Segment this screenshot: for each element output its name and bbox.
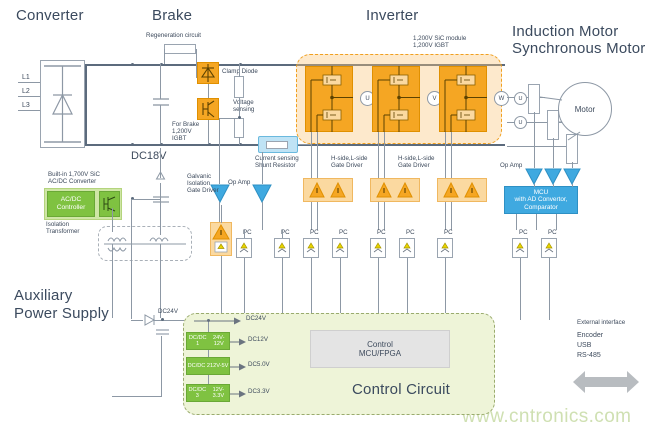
phase-label-l1: L1 xyxy=(22,74,30,82)
dcdc-1-range: 24V-12V xyxy=(208,335,229,348)
dc18v-label: DC18V xyxy=(131,150,166,162)
rail-label-dc3v3: DC3.3V xyxy=(248,389,270,396)
dcdc-1-block[interactable]: DC/DC 1 24V-12V xyxy=(186,332,230,350)
mcu-in-3 xyxy=(572,184,573,187)
gate-driver-icons-3 xyxy=(437,178,487,202)
inverter-leg-v-symbols xyxy=(372,66,420,132)
section-title-motor-2: Synchronous Motor xyxy=(512,41,645,58)
dcdc-3-range: 12V-3.3V xyxy=(208,387,229,400)
isolation-transformer-label: IsolationTransformer xyxy=(46,222,79,236)
brake-igbt-top-leg xyxy=(208,84,209,98)
gate-driver-label-2: H-side,L-sideGate Driver xyxy=(398,156,434,170)
op-amp-label-brake: Op Amp xyxy=(228,180,250,187)
sic-mosfet-icon xyxy=(99,191,120,217)
diagram-canvas: Converter Brake Inverter Induction Motor… xyxy=(0,0,646,431)
pc-in-2 xyxy=(282,230,283,238)
acdc-controller-block: AC/DCController xyxy=(47,191,95,217)
mcu-in-2 xyxy=(553,184,554,187)
vsense-top-leg xyxy=(239,64,240,77)
gate-feed xyxy=(378,132,379,180)
external-item-encoder: Encoder xyxy=(577,332,603,340)
current-shunt-resistor xyxy=(266,141,288,149)
optocoupler-icon-7 xyxy=(437,238,453,258)
motor-shunt-1 xyxy=(528,84,540,114)
pc-out-2 xyxy=(282,258,283,320)
external-item-usb: USB xyxy=(577,342,591,350)
pc-label: PC xyxy=(519,230,528,237)
optocoupler-icon-2 xyxy=(274,238,290,258)
op-amp-triangle-motor-2 xyxy=(544,168,562,185)
rail-arrow-24v xyxy=(194,316,246,326)
motor-terminal-top: U xyxy=(514,92,527,105)
rectifier-symbol xyxy=(40,60,86,149)
gate-driver-out xyxy=(317,202,318,230)
dc-link-capacitor xyxy=(152,92,170,116)
rail-label-dc5v: DC5.0V xyxy=(248,362,270,369)
gate-driver-out xyxy=(445,202,446,230)
aux-rail-down xyxy=(131,199,132,319)
dcdc-3-name: DC/DC 3 xyxy=(187,387,208,400)
section-title-brake: Brake xyxy=(152,8,192,25)
for-brake-label: For Brake1,200VIGBT xyxy=(172,122,199,143)
pc-out-5 xyxy=(378,258,379,320)
pc-out-7 xyxy=(445,258,446,320)
dcdc-chain-3 xyxy=(208,375,209,384)
pc-in-1 xyxy=(244,230,245,238)
rail-arrow-5v xyxy=(230,362,248,372)
galvanic-gate-driver-label: GalvanicIsolationGate Driver xyxy=(187,174,219,195)
dc24v-label: DC24V xyxy=(158,309,178,316)
section-title-aux-2: Power Supply xyxy=(14,306,109,323)
gate-driver-out xyxy=(451,202,452,230)
mcu-in-1 xyxy=(534,184,535,187)
cap-bottom-leg xyxy=(160,105,161,144)
gate-driver-icons-2 xyxy=(370,178,420,202)
section-title-inverter: Inverter xyxy=(366,8,418,25)
bus-node xyxy=(131,143,134,146)
pc-label: PC xyxy=(377,230,386,237)
aux-ground-wire xyxy=(112,396,162,397)
op-amp-triangle-motor-3 xyxy=(563,168,581,185)
optocoupler-icon-6 xyxy=(399,238,415,258)
rail-arrow-12v xyxy=(230,337,248,347)
optocoupler-icon-1 xyxy=(236,238,252,258)
dc24v-out-wire xyxy=(154,320,184,321)
inverter-module-note: 1,200V SiC module1,200V IGBT xyxy=(413,36,466,50)
section-title-aux-1: Auxiliary xyxy=(14,288,72,305)
external-item-rs485: RS-485 xyxy=(577,352,601,360)
galvanic-isolation-icon xyxy=(210,222,232,256)
optocoupler-icon-5 xyxy=(370,238,386,258)
pc-out-1 xyxy=(244,258,245,320)
control-mcu-fpga-block[interactable]: ControlMCU/FPGA xyxy=(310,330,450,368)
pc-label: PC xyxy=(548,230,557,237)
dcdc-2-block[interactable]: DC/DC 2 12V-5V xyxy=(186,357,230,375)
cap-top-leg xyxy=(160,64,161,99)
dcdc-chain-2 xyxy=(208,350,209,357)
brake-igbt-icon xyxy=(197,98,219,120)
section-title-motor-1: Induction Motor xyxy=(512,24,618,41)
phase-terminal-w: W xyxy=(494,91,509,106)
control-circuit-title: Control Circuit xyxy=(352,382,450,399)
inverter-leg-w-symbols xyxy=(439,66,487,132)
optocoupler-icon-4 xyxy=(332,238,348,258)
op-amp-label-motor: Op Amp xyxy=(500,163,522,170)
pc-out-8 xyxy=(520,258,521,320)
dc24v-capacitor xyxy=(155,326,171,340)
pc-out-6 xyxy=(407,258,408,320)
optocoupler-icon-9 xyxy=(541,238,557,258)
optocoupler-icon-3 xyxy=(303,238,319,258)
dc18v-arrow xyxy=(155,172,167,186)
galvanic-driver-in xyxy=(221,205,222,223)
rail-label-dc12v: DC12V xyxy=(248,337,268,344)
regen-left-leg xyxy=(164,49,165,64)
opamp-out-wire xyxy=(262,202,263,230)
pc-label: PC xyxy=(339,230,348,237)
gate-driver-icons-1 xyxy=(303,178,353,202)
external-interface-title: External interface xyxy=(577,320,625,327)
op-amp-triangle-motor-1 xyxy=(525,168,543,185)
pc-label: PC xyxy=(406,230,415,237)
motor-connection-lines xyxy=(540,82,612,162)
dc18v-capacitor xyxy=(152,192,170,208)
mcu-block: MCUwith AD Convertor,Comparator xyxy=(504,186,578,214)
brake-igbt-bottom-leg xyxy=(208,120,209,144)
dc18v-branch xyxy=(131,199,161,200)
external-interface-double-arrow xyxy=(573,368,639,396)
gate-feed xyxy=(445,132,446,180)
transformer-windings xyxy=(102,231,190,257)
pc-label: PC xyxy=(444,230,453,237)
mcu-out-3 xyxy=(556,214,557,230)
vsense-tap-wire xyxy=(219,118,239,119)
dcdc-1-name: DC/DC 1 xyxy=(187,335,208,348)
transformer-out-down xyxy=(112,244,113,318)
dcdc-2-name: DC/DC 2 xyxy=(188,363,210,369)
voltage-divider-resistor-bottom xyxy=(234,118,244,138)
op-amp-triangle xyxy=(252,184,272,204)
shunt-to-opamp xyxy=(262,152,263,184)
dcdc-3-block[interactable]: DC/DC 3 12V-3.3V xyxy=(186,384,230,402)
voltage-divider-resistor-top xyxy=(234,76,244,98)
section-title-converter: Converter xyxy=(16,8,84,25)
pc-label: PC xyxy=(310,230,319,237)
motor-shunt-1-leg xyxy=(534,112,535,168)
transformer-secondary-leg xyxy=(160,225,161,235)
gate-feed xyxy=(384,132,385,180)
gate-feed xyxy=(311,132,312,180)
rail-arrow-3v3 xyxy=(230,389,248,399)
pc-out-3 xyxy=(311,258,312,320)
builtin-sic-note: Built-in 1,700V SiCAC/DC Converter xyxy=(48,172,100,186)
gate-feed xyxy=(317,132,318,180)
gate-driver-out xyxy=(311,202,312,230)
pc-out-4 xyxy=(340,258,341,320)
rectifier-out-link xyxy=(85,64,87,145)
clamp-diode-icon xyxy=(197,62,219,84)
phase-label-l3: L3 xyxy=(22,102,30,110)
aux-rail-down-2 xyxy=(160,244,161,318)
vsense-bottom-leg xyxy=(239,137,240,145)
mcu-out-1 xyxy=(516,214,517,230)
dc24v-return xyxy=(161,336,162,396)
rail-label-dc24v: DC24V xyxy=(246,316,266,323)
gate-driver-label-1: H-side,L-sideGate Driver xyxy=(331,156,367,170)
pc-out-9 xyxy=(549,258,550,320)
regeneration-circuit-label: Regeneration circuit xyxy=(146,33,201,40)
optocoupler-icon-8 xyxy=(512,238,528,258)
inverter-leg-u-symbols xyxy=(305,66,353,132)
dc24v-in-wire xyxy=(131,320,143,321)
gate-driver-out xyxy=(384,202,385,230)
mcu-out-2 xyxy=(536,214,537,230)
gate-driver-out xyxy=(378,202,379,230)
motor-terminal-u: U xyxy=(514,116,527,129)
transformer-primary-leg xyxy=(112,208,113,232)
shunt-right-wire xyxy=(298,144,312,145)
gate-feed xyxy=(451,132,452,180)
galvanic-driver-out xyxy=(221,256,222,318)
dcdc-2-range: 12V-5V xyxy=(210,363,228,369)
bus-node xyxy=(131,63,134,66)
voltage-sensing-label: Voltagesensing xyxy=(233,100,254,114)
regeneration-resistor xyxy=(164,44,196,54)
phase-label-l2: L2 xyxy=(22,88,30,96)
vsense-to-opamp xyxy=(219,118,220,184)
